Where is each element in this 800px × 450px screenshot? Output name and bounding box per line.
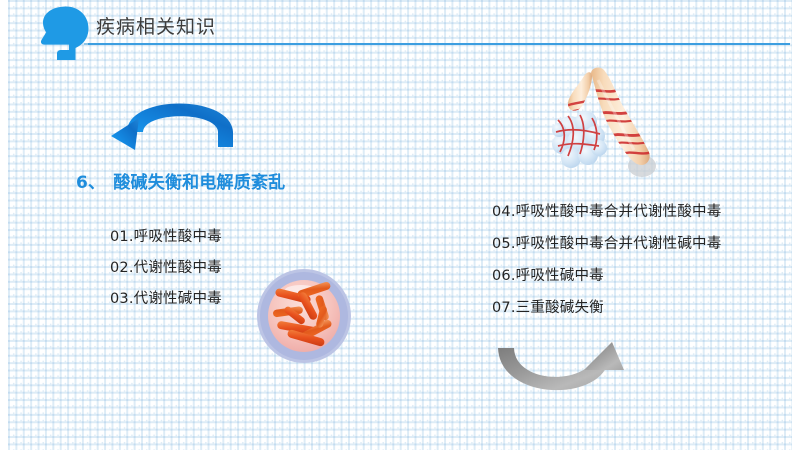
page-title: 疾病相关知识 (96, 12, 216, 42)
list-item[interactable]: 05.呼吸性酸中毒合并代谢性碱中毒 (492, 228, 721, 260)
curved-arrow-left-icon (105, 80, 253, 152)
topic-list-left: 01.呼吸性酸中毒 02.代谢性酸中毒 03.代谢性碱中毒 (110, 222, 222, 315)
head-profile-icon (28, 4, 92, 62)
header-divider (88, 43, 790, 45)
section-heading: 6、 酸碱失衡和电解质紊乱 (76, 170, 285, 196)
bacteria-petri-dish-image (253, 268, 355, 364)
list-item[interactable]: 01.呼吸性酸中毒 (110, 222, 222, 253)
section-heading-text: 酸碱失衡和电解质紊乱 (113, 173, 285, 193)
list-item[interactable]: 06.呼吸性碱中毒 (492, 260, 721, 292)
topic-list-right: 04.呼吸性酸中毒合并代谢性酸中毒 05.呼吸性酸中毒合并代谢性碱中毒 06.呼… (492, 196, 721, 324)
list-item[interactable]: 02.代谢性酸中毒 (110, 253, 222, 284)
slide-canvas: 疾病相关知识 6、 酸碱失衡和电解质紊乱 01.呼吸性酸中毒 02.代谢 (0, 0, 800, 450)
list-item[interactable]: 07.三重酸碱失衡 (492, 292, 721, 324)
list-item[interactable]: 03.代谢性碱中毒 (110, 284, 222, 315)
list-item[interactable]: 04.呼吸性酸中毒合并代谢性酸中毒 (492, 196, 721, 228)
curved-arrow-right-icon (490, 340, 632, 402)
section-number: 6、 (76, 173, 105, 193)
bronchus-alveoli-image (552, 58, 670, 186)
